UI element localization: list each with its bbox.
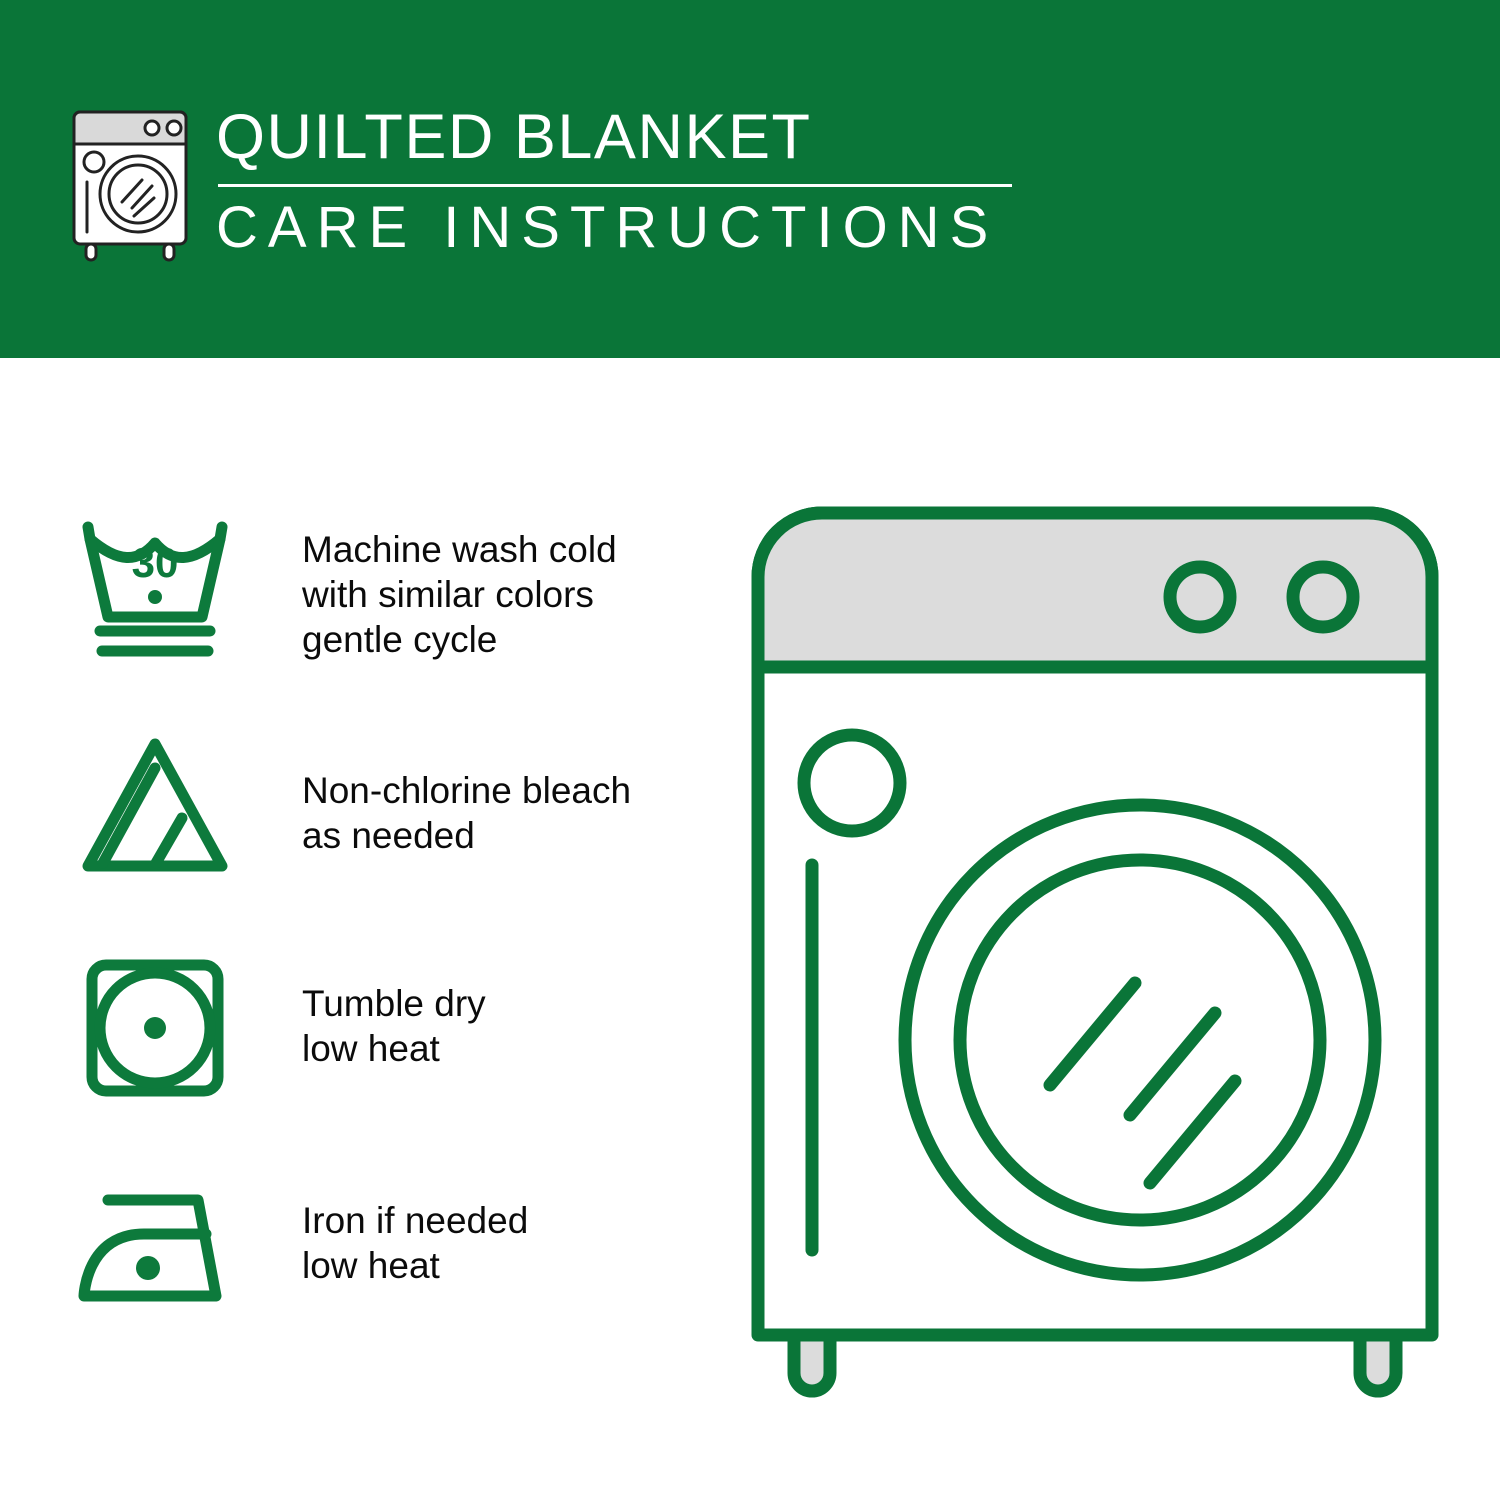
care-line: Machine wash cold bbox=[302, 527, 722, 572]
care-row-bleach: Non-chlorine bleach as needed bbox=[70, 720, 710, 935]
care-instructions-poster: QUILTED BLANKET CARE INSTRUCTIONS 30 bbox=[0, 0, 1500, 1500]
iron-icon bbox=[70, 1164, 240, 1334]
care-row-iron: Iron if needed low heat bbox=[70, 1150, 710, 1365]
header-banner: QUILTED BLANKET CARE INSTRUCTIONS bbox=[0, 0, 1500, 358]
care-line: Tumble dry bbox=[302, 981, 722, 1026]
care-row-wash: 30 Machine wash cold with similar colors… bbox=[70, 505, 710, 720]
care-line: Non-chlorine bleach bbox=[302, 768, 722, 813]
care-line: as needed bbox=[302, 813, 722, 858]
care-text-iron: Iron if needed low heat bbox=[302, 1198, 722, 1288]
bleach-triangle-icon bbox=[70, 726, 240, 896]
care-line: Iron if needed bbox=[302, 1198, 722, 1243]
care-line: low heat bbox=[302, 1243, 722, 1288]
wash-tub-30-icon: 30 bbox=[70, 505, 240, 675]
washing-machine-icon bbox=[62, 104, 202, 264]
care-row-tumble-dry: Tumble dry low heat bbox=[70, 935, 710, 1150]
care-text-bleach: Non-chlorine bleach as needed bbox=[302, 768, 722, 858]
title-divider bbox=[218, 184, 1012, 187]
page-subtitle: CARE INSTRUCTIONS bbox=[216, 193, 1036, 263]
header-titles: QUILTED BLANKET CARE INSTRUCTIONS bbox=[216, 100, 1036, 263]
page-title: QUILTED BLANKET bbox=[216, 100, 1036, 174]
care-line: gentle cycle bbox=[302, 617, 722, 662]
care-line: with similar colors bbox=[302, 572, 722, 617]
care-text-tumble-dry: Tumble dry low heat bbox=[302, 981, 722, 1071]
care-line: low heat bbox=[302, 1026, 722, 1071]
care-text-wash: Machine wash cold with similar colors ge… bbox=[302, 527, 722, 662]
wash-temperature-label: 30 bbox=[132, 539, 179, 586]
tumble-dry-icon bbox=[70, 943, 240, 1113]
washing-machine-illustration bbox=[750, 505, 1440, 1410]
care-instruction-list: 30 Machine wash cold with similar colors… bbox=[70, 505, 710, 1365]
